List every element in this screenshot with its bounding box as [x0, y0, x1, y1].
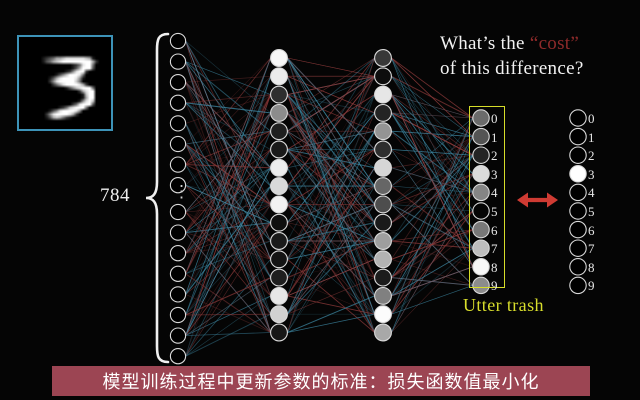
target-output-label-9: 9	[588, 279, 595, 292]
actual-output-label-0: 0	[491, 112, 498, 125]
neuron	[170, 287, 185, 302]
target-output-label-2: 2	[588, 149, 595, 162]
actual-output-label-8: 8	[491, 261, 498, 274]
neuron	[271, 251, 288, 268]
neuron	[271, 288, 288, 305]
network-edge	[287, 58, 374, 76]
actual-output-label-9: 9	[491, 279, 498, 292]
neuron	[170, 95, 185, 110]
input-size-label: 784	[100, 185, 130, 207]
actual-output-label-5: 5	[491, 205, 498, 218]
neuron	[170, 225, 185, 240]
neuron	[271, 86, 288, 103]
neuron	[570, 128, 586, 144]
target-output-label-8: 8	[588, 261, 595, 274]
neuron	[570, 277, 586, 293]
network-edge	[391, 118, 472, 241]
neuron	[375, 141, 392, 158]
network-edge	[287, 204, 374, 296]
neuron	[271, 306, 288, 323]
neuron	[570, 166, 586, 182]
actual-output-highlight-box	[469, 106, 505, 288]
neuron	[271, 214, 288, 231]
actual-output-label-3: 3	[491, 168, 498, 181]
actual-output-label-7: 7	[491, 242, 498, 255]
neuron	[271, 233, 288, 250]
neuron	[375, 159, 392, 176]
network-edge	[391, 192, 472, 332]
target-output-label-3: 3	[588, 168, 595, 181]
neuron	[570, 203, 586, 219]
caption-text: 模型训练过程中更新参数的标准：损失函数值最小化	[103, 368, 540, 394]
target-output-label-5: 5	[588, 205, 595, 218]
neuron	[170, 246, 185, 261]
neuron	[170, 307, 185, 322]
target-output-label-1: 1	[588, 131, 595, 144]
headline-line1-pre: What’s the	[440, 33, 530, 54]
neuron	[375, 178, 392, 195]
neuron	[271, 196, 288, 213]
arrow-head-left	[517, 193, 528, 208]
network-edge	[186, 131, 271, 164]
neuron	[375, 68, 392, 85]
neuron	[170, 266, 185, 281]
screenshot-root: 784 ⋮ What’s the “cost” of this differen…	[0, 0, 640, 400]
neuron	[170, 54, 185, 69]
headline-line2: of this difference?	[440, 58, 584, 79]
actual-output-label-2: 2	[491, 149, 498, 162]
neuron	[271, 178, 288, 195]
neuron	[170, 204, 185, 219]
neuron	[570, 110, 586, 126]
headline-cost-word: “cost”	[530, 33, 579, 54]
neuron	[271, 68, 288, 85]
neuron	[170, 33, 185, 48]
neuron	[271, 269, 288, 286]
network-edge	[391, 248, 472, 332]
neuron	[375, 233, 392, 250]
neuron	[570, 259, 586, 275]
actual-output-label-6: 6	[491, 224, 498, 237]
target-output-label-0: 0	[588, 112, 595, 125]
network-edge	[391, 211, 472, 296]
neuron	[170, 328, 185, 343]
input-layer-ellipsis: ⋮	[173, 188, 190, 195]
neuron	[570, 147, 586, 163]
neuron	[570, 240, 586, 256]
neuron	[375, 86, 392, 103]
neuron	[170, 349, 185, 364]
neuron	[271, 123, 288, 140]
neuron	[170, 136, 185, 151]
utter-trash-caption: Utter trash	[463, 295, 544, 316]
network-edge	[287, 58, 374, 223]
neuron	[375, 251, 392, 268]
input-brace-icon	[144, 32, 170, 364]
neuron	[271, 159, 288, 176]
neuron	[271, 50, 288, 67]
arrow-head-right	[547, 193, 558, 208]
actual-output-label-4: 4	[491, 186, 498, 199]
network-edge	[287, 204, 374, 222]
neuron	[375, 105, 392, 122]
neuron	[170, 116, 185, 131]
target-output-label-4: 4	[588, 186, 595, 199]
network-edges	[186, 41, 473, 356]
target-output-label-6: 6	[588, 224, 595, 237]
network-edge	[391, 285, 472, 314]
neuron	[375, 269, 392, 286]
network-edge	[391, 137, 472, 278]
neuron	[170, 157, 185, 172]
neuron	[375, 306, 392, 323]
neuron	[375, 214, 392, 231]
network-edge	[287, 314, 374, 332]
neuron	[375, 123, 392, 140]
network-edge	[287, 58, 374, 113]
neuron	[375, 288, 392, 305]
neuron	[271, 105, 288, 122]
neuron	[570, 221, 586, 237]
target-output-label-7: 7	[588, 242, 595, 255]
network-edge	[391, 248, 472, 296]
neuron	[375, 50, 392, 67]
headline-text: What’s the “cost” of this difference?	[440, 31, 636, 81]
neuron	[375, 196, 392, 213]
neuron	[271, 141, 288, 158]
neuron	[570, 184, 586, 200]
neuron	[271, 324, 288, 341]
network-edge	[391, 150, 472, 267]
neuron	[170, 75, 185, 90]
difference-arrow	[517, 193, 558, 208]
neuron	[375, 324, 392, 341]
caption-banner: 模型训练过程中更新参数的标准：损失函数值最小化	[52, 366, 590, 396]
actual-output-label-1: 1	[491, 131, 498, 144]
